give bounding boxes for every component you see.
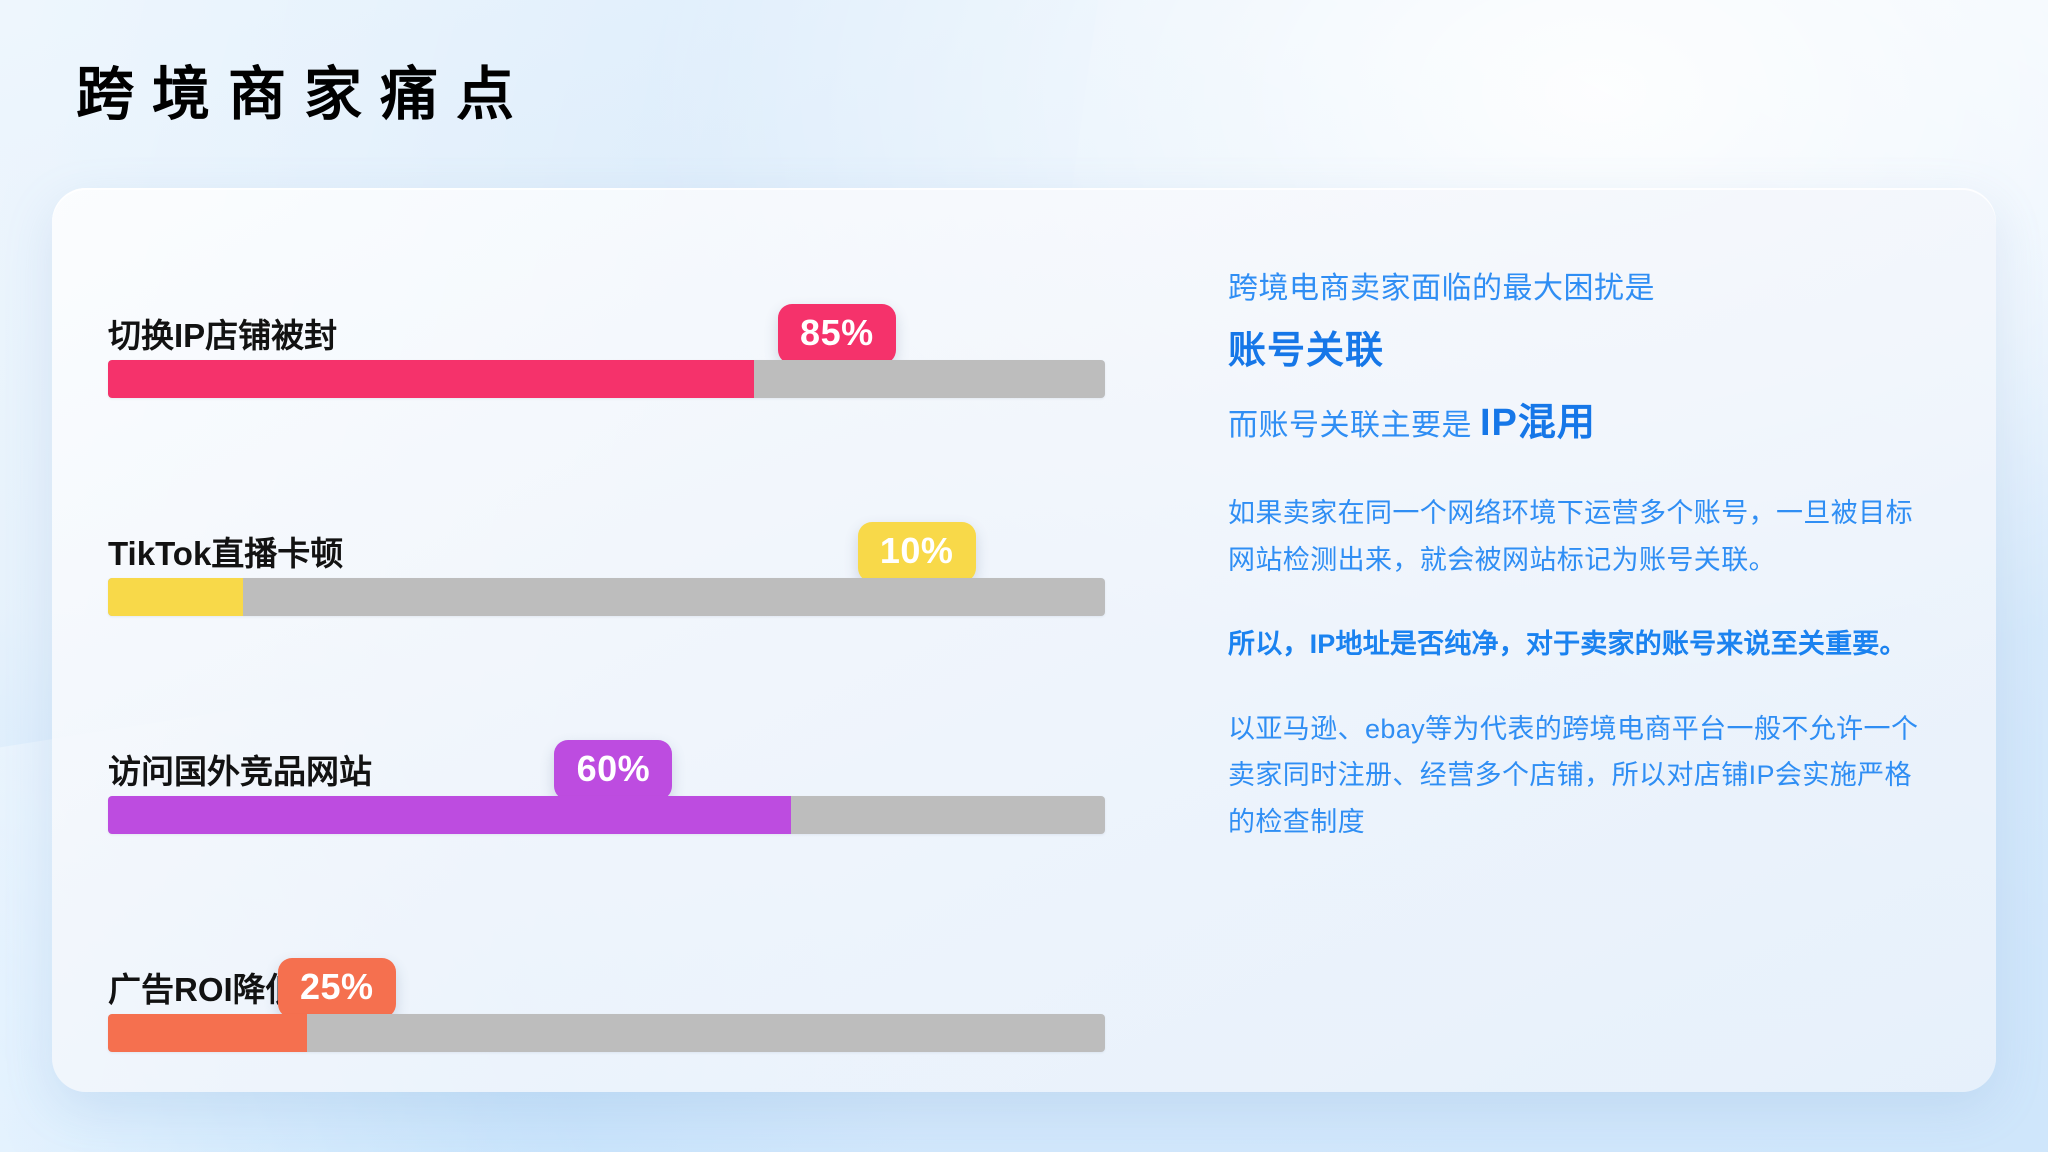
bar-fill bbox=[108, 1014, 307, 1052]
bar-fill bbox=[108, 360, 754, 398]
bar-header: 切换IP店铺被封 85% bbox=[108, 254, 1172, 360]
lead-secondary: 而账号关联主要是IP混用 bbox=[1228, 394, 1926, 453]
bar-group: 访问国外竞品网站 60% bbox=[108, 690, 1172, 860]
lead-line: 跨境电商卖家面临的最大困扰是 bbox=[1228, 266, 1926, 313]
bar-header: 广告ROI降低 25% bbox=[108, 908, 1172, 1014]
bar-header: TikTok直播卡顿 10% bbox=[108, 472, 1172, 578]
bar-fill bbox=[108, 578, 243, 616]
bar-value-badge: 25% bbox=[278, 958, 396, 1018]
bar-group: 切换IP店铺被封 85% bbox=[108, 254, 1172, 424]
bar-value-badge: 60% bbox=[554, 740, 672, 800]
bar-label: 访问国外竞品网站 bbox=[108, 755, 372, 796]
explanation-pane: 跨境电商卖家面临的最大困扰是 账号关联 而账号关联主要是IP混用 如果卖家在同一… bbox=[1172, 188, 1996, 1092]
lead-keyword: 账号关联 bbox=[1228, 323, 1926, 380]
bar-value-badge: 85% bbox=[778, 304, 896, 364]
bar-label: 切换IP店铺被封 bbox=[108, 319, 337, 360]
lead-secondary-highlight: IP混用 bbox=[1480, 402, 1596, 444]
bar-label: 广告ROI降低 bbox=[108, 973, 299, 1014]
bar-track bbox=[108, 796, 1105, 834]
bar-value-badge: 10% bbox=[858, 522, 976, 582]
bar-chart-pane: 切换IP店铺被封 85% TikTok直播卡顿 10% 访问国外竞品网站 60% bbox=[52, 188, 1172, 1092]
paragraph-1: 如果卖家在同一个网络环境下运营多个账号，一旦被目标网站检测出来，就会被网站标记为… bbox=[1228, 490, 1926, 583]
bar-track bbox=[108, 578, 1105, 616]
bar-group: 广告ROI降低 25% bbox=[108, 908, 1172, 1078]
bar-group: TikTok直播卡顿 10% bbox=[108, 472, 1172, 642]
bar-track bbox=[108, 1014, 1105, 1052]
bar-fill bbox=[108, 796, 791, 834]
paragraph-2: 所以，IP地址是否纯净，对于卖家的账号来说至关重要。 bbox=[1228, 621, 1926, 667]
bar-label: TikTok直播卡顿 bbox=[108, 537, 343, 578]
bar-header: 访问国外竞品网站 60% bbox=[108, 690, 1172, 796]
page-title: 跨境商家痛点 bbox=[76, 62, 532, 129]
bar-track bbox=[108, 360, 1105, 398]
paragraph-3: 以亚马逊、ebay等为代表的跨境电商平台一般不允许一个卖家同时注册、经营多个店铺… bbox=[1228, 706, 1926, 845]
lead-secondary-prefix: 而账号关联主要是 bbox=[1228, 409, 1472, 442]
content-card: 切换IP店铺被封 85% TikTok直播卡顿 10% 访问国外竞品网站 60% bbox=[52, 188, 1996, 1092]
